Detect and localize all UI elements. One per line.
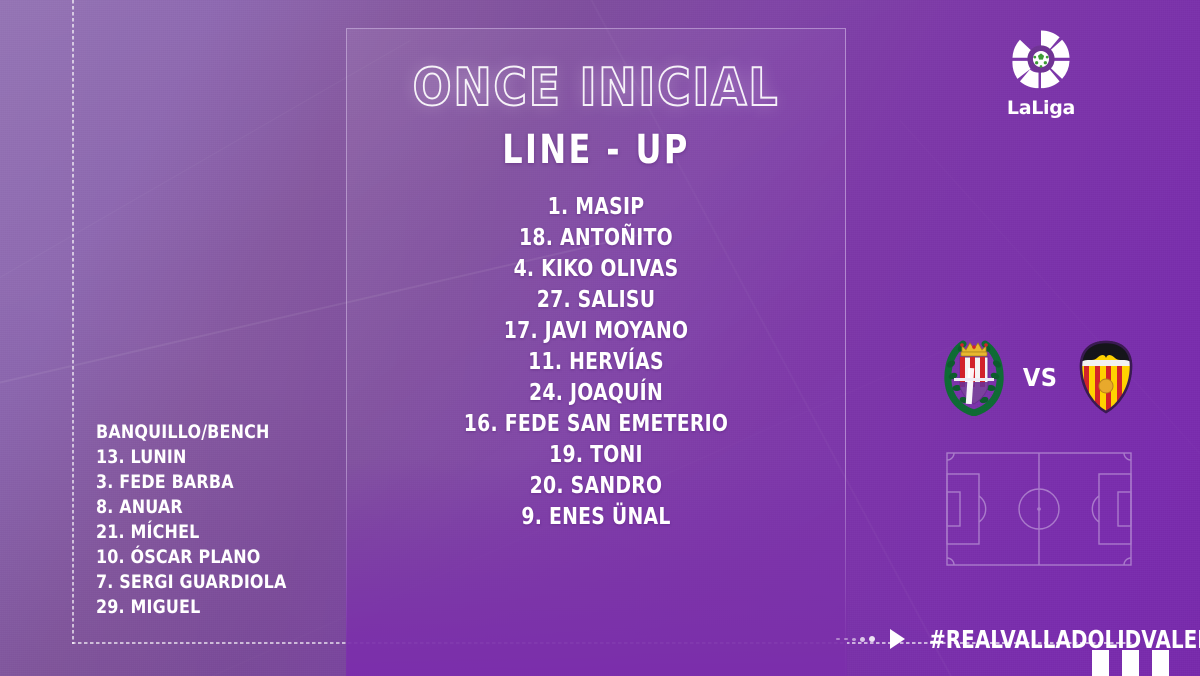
laliga-wordmark: LaLiga xyxy=(998,97,1084,119)
list-item: 7. SERGI GUARDIOLA xyxy=(96,570,287,595)
list-item: 11. HERVÍAS xyxy=(391,347,801,378)
brand-bar xyxy=(1152,650,1169,676)
football-pitch-icon xyxy=(944,450,1134,568)
list-item: 10. ÓSCAR PLANO xyxy=(96,545,287,570)
list-item: 20. SANDRO xyxy=(391,471,801,502)
brand-bar xyxy=(1092,650,1109,676)
headline-block: ONCE INICIAL LINE - UP xyxy=(346,62,846,170)
list-item: 16. FEDE SAN EMETERIO xyxy=(391,409,801,440)
real-valladolid-crest-icon xyxy=(941,338,1007,416)
list-item: 18. ANTOÑITO xyxy=(391,223,801,254)
dashed-lead-icon xyxy=(836,636,875,642)
bench-title: BANQUILLO/BENCH xyxy=(96,420,287,445)
page-subtitle: LINE - UP xyxy=(396,130,796,170)
list-item: 19. TONI xyxy=(391,440,801,471)
list-item: 29. MIGUEL xyxy=(96,595,287,620)
lineup-graphic: ONCE INICIAL LINE - UP 1. MASIP 18. ANTO… xyxy=(0,0,1200,676)
list-item: 9. ENES ÜNAL xyxy=(391,502,801,533)
valencia-crest-icon xyxy=(1073,338,1139,416)
laliga-logo-icon xyxy=(1010,28,1072,90)
dotted-vertical-rule xyxy=(72,0,74,644)
matchup-crests: VS xyxy=(920,332,1160,422)
brand-bars xyxy=(1092,650,1169,676)
list-item: 13. LUNIN xyxy=(96,445,287,470)
list-item: 21. MÍCHEL xyxy=(96,520,287,545)
versus-label: VS xyxy=(1023,363,1058,392)
list-item: 1. MASIP xyxy=(391,192,801,223)
list-item: 17. JAVI MOYANO xyxy=(391,316,801,347)
list-item: 27. SALISU xyxy=(391,285,801,316)
list-item: 24. JOAQUÍN xyxy=(391,378,801,409)
list-item: 3. FEDE BARBA xyxy=(96,470,287,495)
page-title: ONCE INICIAL xyxy=(376,62,816,114)
bench-list: BANQUILLO/BENCH 13. LUNIN 3. FEDE BARBA … xyxy=(96,420,323,620)
laliga-logo: LaLiga xyxy=(998,28,1084,119)
starting-eleven-list: 1. MASIP 18. ANTOÑITO 4. KIKO OLIVAS 27.… xyxy=(346,192,846,533)
list-item: 4. KIKO OLIVAS xyxy=(391,254,801,285)
brand-bar xyxy=(1122,650,1139,676)
list-item: 8. ANUAR xyxy=(96,495,287,520)
arrow-right-icon xyxy=(890,629,905,649)
